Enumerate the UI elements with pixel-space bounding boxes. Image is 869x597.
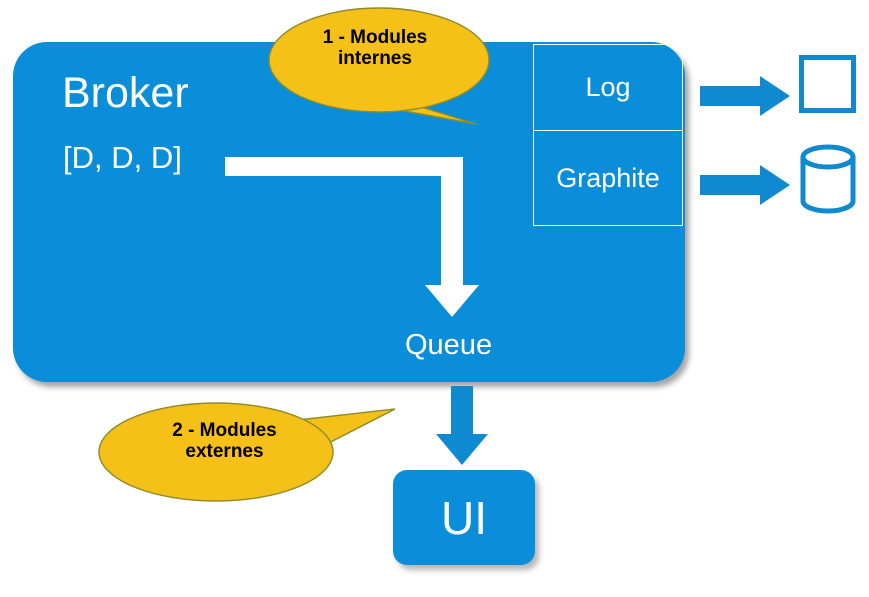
ui-container[interactable]: UI xyxy=(393,470,535,565)
module-label-graphite: Graphite xyxy=(556,163,660,194)
queue-to-ui-arrow-icon xyxy=(435,386,489,466)
graphite-to-db-arrow-icon xyxy=(700,165,790,205)
elbow-down-arrow-icon xyxy=(225,145,480,320)
file-square-icon[interactable] xyxy=(799,55,856,113)
callout-bubble-1[interactable] xyxy=(268,6,490,134)
callout-bubble-2[interactable] xyxy=(98,398,398,506)
module-cell-graphite[interactable]: Graphite xyxy=(533,131,683,226)
broker-subtitle: [D, D, D] xyxy=(63,142,182,173)
log-to-file-arrow-icon xyxy=(700,76,790,116)
database-cylinder-icon[interactable] xyxy=(800,144,856,214)
ui-label: UI xyxy=(441,495,487,541)
module-table: Log Graphite xyxy=(533,44,685,226)
diagram-canvas: Broker [D, D, D] Log Graphite Queue UI xyxy=(0,0,869,597)
module-label-log: Log xyxy=(585,72,630,103)
module-cell-log[interactable]: Log xyxy=(533,44,683,131)
broker-title: Broker xyxy=(62,72,189,115)
queue-label: Queue xyxy=(405,331,492,360)
